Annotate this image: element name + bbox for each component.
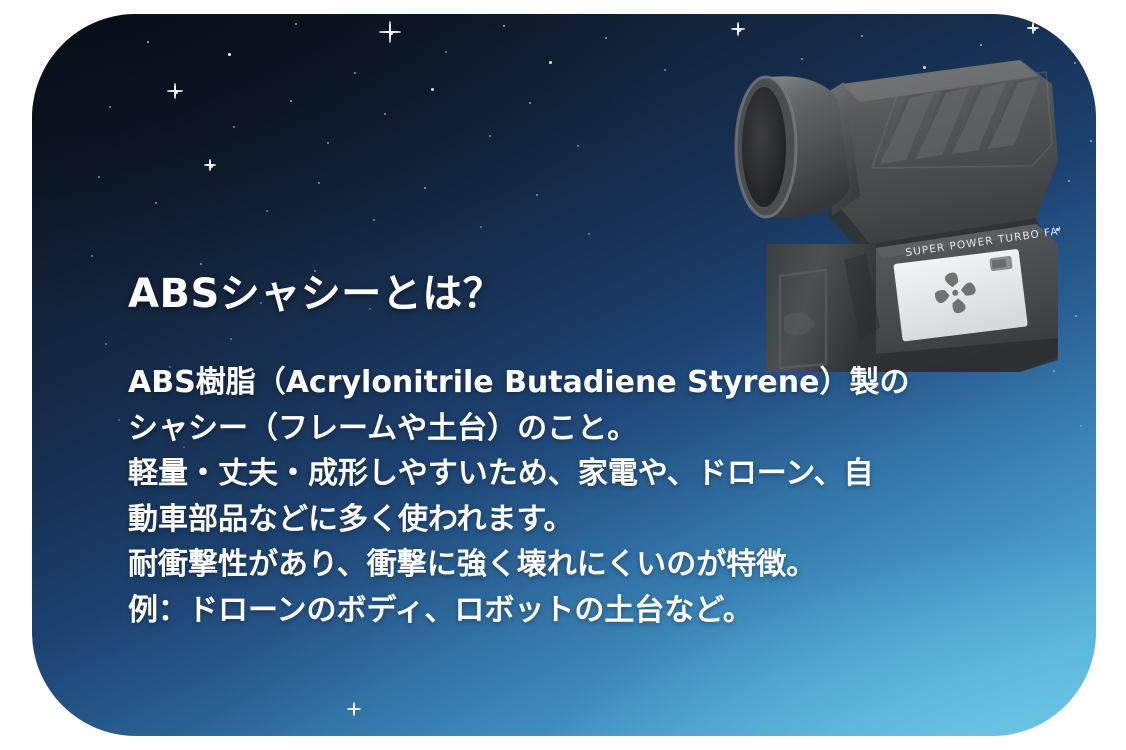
card-copy: ABSシャシーとは？ ABS樹脂（Acrylonitrile Butadiene…: [128, 272, 1078, 634]
star-dot: [295, 23, 297, 25]
body-line-1: ABS樹脂（Acrylonitrile Butadiene Styrene）製の: [128, 360, 1078, 406]
star-dot: [577, 145, 579, 147]
star-dot: [384, 113, 386, 115]
star-dot: [980, 44, 982, 46]
star-dot: [290, 100, 292, 102]
star-dot: [155, 202, 157, 204]
star-dot: [445, 51, 447, 53]
star-dot: [861, 35, 863, 37]
star-sparkle-icon: [167, 83, 183, 99]
star-dot: [109, 106, 111, 108]
star-dot: [233, 126, 235, 128]
star-sparkle-icon: [1027, 22, 1039, 34]
star-sparkle-icon: [379, 21, 401, 43]
screenshot-root: SUPER POWER TURBO FAN: [0, 0, 1126, 750]
star-dot: [738, 29, 741, 32]
star-dot: [1090, 140, 1092, 142]
star-dot: [1033, 28, 1036, 31]
body-line-5: 耐衝撃性があり、衝撃に強く壊れにくいのが特徴。: [128, 542, 1078, 588]
star-dot: [354, 72, 356, 74]
star-dot: [228, 53, 231, 56]
star-dot: [210, 165, 213, 168]
star-dot: [431, 88, 434, 91]
star-dot: [91, 255, 93, 257]
star-sparkle-icon: [204, 159, 216, 171]
card-body-text: ABS樹脂（Acrylonitrile Butadiene Styrene）製の…: [128, 360, 1078, 634]
body-line-4: 動車部品などに多く使われます。: [128, 497, 1078, 543]
star-dot: [373, 219, 375, 221]
star-dot: [105, 343, 107, 345]
star-dot: [200, 263, 202, 265]
star-dot: [605, 37, 607, 39]
star-sparkle-icon: [347, 702, 361, 716]
info-card: SUPER POWER TURBO FAN: [32, 14, 1096, 736]
star-dot: [98, 176, 100, 178]
star-dot: [664, 69, 666, 71]
star-dot: [536, 194, 538, 196]
body-line-2: シャシー（フレームや土台）のこと。: [128, 406, 1078, 452]
page-title: ABSシャシーとは？: [128, 272, 1078, 316]
star-dot: [147, 41, 149, 43]
star-dot: [390, 32, 393, 35]
star-dot: [1074, 62, 1076, 64]
star-dot: [480, 226, 482, 228]
body-line-6: 例：ドローンのボディ、ロボットの土台など。: [128, 588, 1078, 634]
star-dot: [327, 142, 329, 144]
star-dot: [588, 233, 590, 235]
star-dot: [1080, 425, 1082, 427]
star-dot: [529, 102, 531, 104]
star-dot: [175, 91, 178, 94]
star-dot: [424, 187, 426, 189]
star-dot: [118, 419, 120, 421]
star-dot: [318, 182, 320, 184]
star-dot: [1068, 180, 1070, 182]
star-dot: [549, 61, 552, 64]
star-dot: [489, 135, 491, 137]
star-sparkle-icon: [731, 22, 745, 36]
air-nozzle-icon: [742, 87, 786, 207]
star-dot: [266, 210, 268, 212]
body-line-3: 軽量・丈夫・成形しやすいため、家電や、ドローン、自: [128, 451, 1078, 497]
star-dot: [503, 25, 505, 27]
